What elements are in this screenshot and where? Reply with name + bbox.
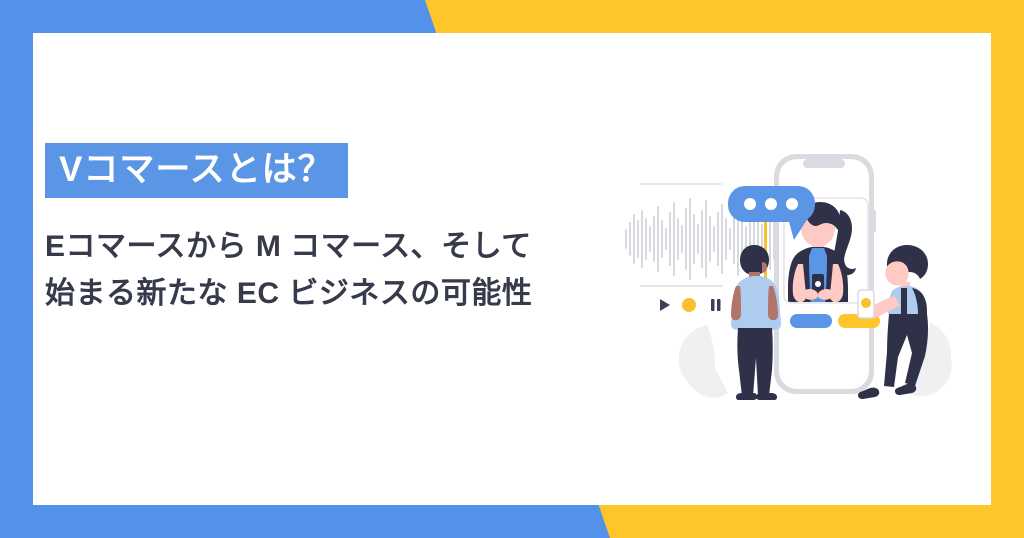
- viewer-pants: [737, 328, 772, 396]
- phone-notch: [803, 159, 845, 168]
- page-subtitle: Eコマースから M コマース、そして 始まる新たな EC ビジネスの可能性: [45, 224, 605, 317]
- record-button[interactable]: [682, 298, 696, 312]
- chat-bubble-dot-1: [744, 198, 756, 210]
- viewer-shoe-right: [756, 393, 777, 400]
- live-commerce-illustration: [612, 140, 972, 405]
- viewer-arm-left: [731, 286, 741, 320]
- banner-image: Vコマースとは？ Eコマースから M コマース、そして 始まる新たな EC ビジ…: [0, 0, 1024, 538]
- shopper-strap: [901, 288, 907, 314]
- pause-button-bar-left[interactable]: [711, 299, 715, 311]
- phone-action-button-primary[interactable]: [790, 314, 832, 328]
- text-block: Vコマースとは？ Eコマースから M コマース、そして 始まる新たな EC ビジ…: [45, 143, 605, 317]
- player-top-rule-gap: [720, 183, 723, 185]
- play-button[interactable]: [660, 299, 670, 311]
- phone-side-button: [873, 210, 876, 232]
- subtitle-line-1: Eコマースから M コマース、そして: [45, 224, 605, 271]
- pause-button-bar-right[interactable]: [717, 299, 721, 311]
- streamer-phone-dot: [815, 281, 821, 287]
- chat-bubble-dot-3: [786, 198, 798, 210]
- phone-coin-icon: [861, 298, 871, 308]
- page-title: Vコマースとは？: [45, 143, 348, 198]
- player-top-rule: [640, 183, 720, 185]
- chat-bubble-dot-2: [765, 198, 777, 210]
- viewer-shoe-left: [736, 393, 757, 400]
- shopper-face: [885, 261, 908, 285]
- player-controls[interactable]: [660, 298, 721, 312]
- subtitle-line-2: 始まる新たな EC ビジネスの可能性: [45, 271, 605, 318]
- player-bottom-rule: [640, 285, 723, 287]
